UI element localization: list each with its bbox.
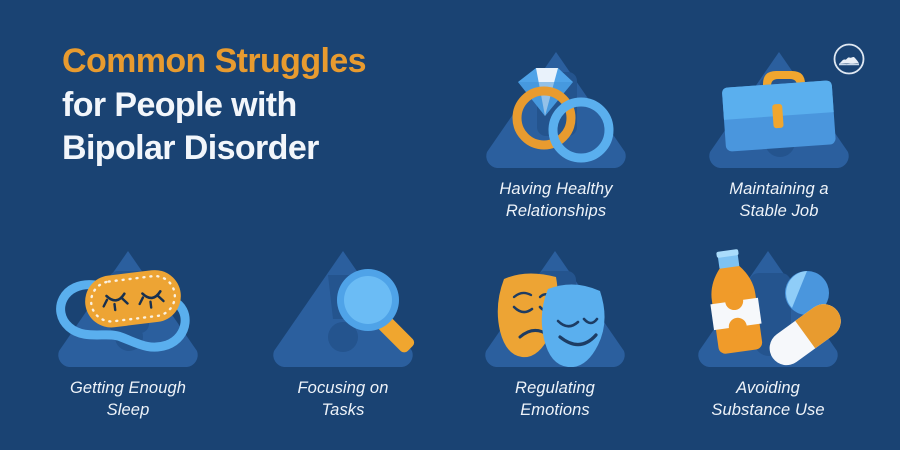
sleep-mask-icon: [33, 245, 223, 367]
label-line-2: Stable Job: [684, 200, 874, 222]
item-substance: Avoiding Substance Use: [673, 245, 863, 422]
item-emotions-label: Regulating Emotions: [460, 377, 650, 422]
label-line-1: Focusing on: [248, 377, 438, 399]
label-line-2: Sleep: [33, 399, 223, 421]
item-substance-label: Avoiding Substance Use: [673, 377, 863, 422]
item-focus: Focusing on Tasks: [248, 245, 438, 422]
item-sleep: Getting Enough Sleep: [33, 245, 223, 422]
title-line-2: for People with: [62, 84, 462, 128]
briefcase-icon: [684, 46, 874, 168]
item-emotions: Regulating Emotions: [460, 245, 650, 422]
label-line-1: Avoiding: [673, 377, 863, 399]
magnifying-glass-icon: [248, 245, 438, 367]
label-line-2: Substance Use: [673, 399, 863, 421]
infographic-canvas: Common Struggles for People with Bipolar…: [0, 0, 900, 450]
item-sleep-label: Getting Enough Sleep: [33, 377, 223, 422]
item-job: Maintaining a Stable Job: [684, 46, 874, 223]
bottle-and-pills-icon: [673, 245, 863, 367]
label-line-2: Tasks: [248, 399, 438, 421]
wedding-rings-icon: [461, 46, 651, 168]
item-relationships: Having Healthy Relationships: [461, 46, 651, 223]
title-line-3: Bipolar Disorder: [62, 127, 462, 171]
label-line-1: Regulating: [460, 377, 650, 399]
label-line-1: Maintaining a: [684, 178, 874, 200]
item-job-label: Maintaining a Stable Job: [684, 178, 874, 223]
label-line-2: Relationships: [461, 200, 651, 222]
theater-masks-icon: [460, 245, 650, 367]
page-title: Common Struggles for People with Bipolar…: [62, 40, 462, 171]
item-focus-label: Focusing on Tasks: [248, 377, 438, 422]
label-line-2: Emotions: [460, 399, 650, 421]
label-line-1: Getting Enough: [33, 377, 223, 399]
title-line-1: Common Struggles: [62, 40, 462, 84]
item-relationships-label: Having Healthy Relationships: [461, 178, 651, 223]
label-line-1: Having Healthy: [461, 178, 651, 200]
